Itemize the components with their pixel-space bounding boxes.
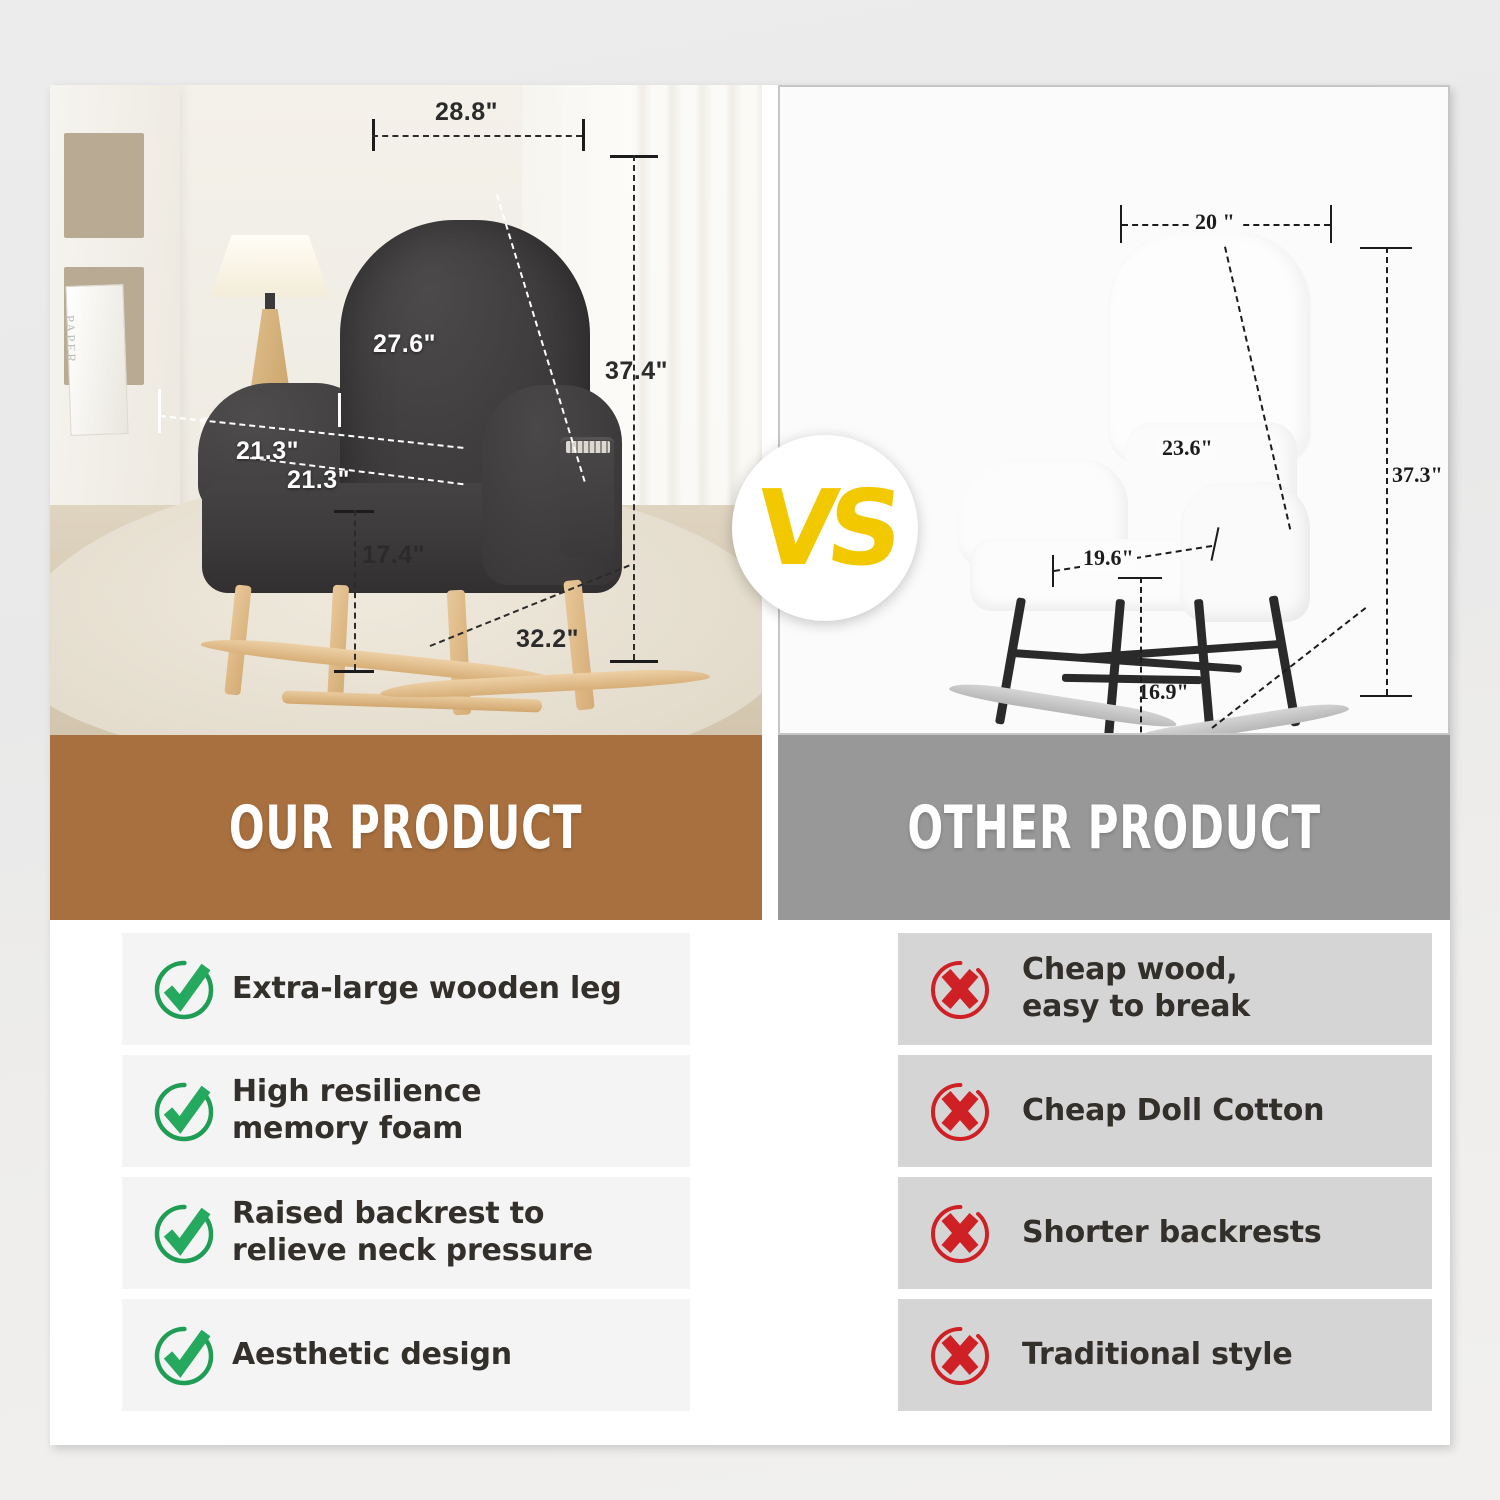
our-product-column: PAPER <box>50 85 762 1445</box>
feature-label: Extra-large wooden leg <box>232 971 622 1008</box>
dim-line <box>1386 247 1388 695</box>
vs-badge: VS <box>732 435 918 621</box>
feature-label: Shorter backrests <box>1008 1215 1322 1252</box>
x-circle-icon <box>912 1075 1008 1147</box>
other-product-feature-list: Cheap wood, easy to break Cheap Doll Cot… <box>778 933 1450 1421</box>
feature-label: Cheap Doll Cotton <box>1008 1093 1324 1130</box>
dim-label-overall-height: 37.4" <box>605 357 668 386</box>
check-circle-icon <box>136 1319 232 1391</box>
feature-label: High resilience memory foam <box>232 1074 481 1147</box>
dim-label-overall-height: 37.3" <box>1392 462 1443 488</box>
our-product-title: OUR PRODUCT <box>229 793 582 863</box>
other-chair-cross-bar <box>1080 640 1280 662</box>
feature-label: Raised backrest to relieve neck pressure <box>232 1196 593 1269</box>
dim-tick <box>1360 695 1412 697</box>
check-circle-icon <box>136 1197 232 1269</box>
other-product-column: 20 " 37.3" 23.6" 19.6" 16.9" <box>778 85 1450 1445</box>
dim-tick <box>338 393 341 427</box>
comparison-infographic: PAPER <box>0 0 1500 1500</box>
feature-label: Traditional style <box>1008 1337 1293 1374</box>
x-circle-icon <box>912 953 1008 1025</box>
feature-label: Cheap wood, easy to break <box>1008 952 1250 1025</box>
feature-row-good[interactable]: Raised backrest to relieve neck pressure <box>122 1177 690 1289</box>
dim-label-seat-height: 16.9" <box>1138 679 1189 705</box>
other-product-title: OTHER PRODUCT <box>907 793 1321 863</box>
feature-row-bad[interactable]: Cheap Doll Cotton <box>898 1055 1432 1167</box>
dim-label-back-height: 23.6" <box>1158 435 1217 461</box>
dim-label-seat-depth: 19.6" <box>1080 545 1137 571</box>
feature-row-good[interactable]: Aesthetic design <box>122 1299 690 1411</box>
dim-line <box>354 510 356 670</box>
shelf-niche-top <box>64 133 144 238</box>
comparison-card: PAPER <box>50 85 1450 1445</box>
room-scene: PAPER <box>50 85 762 735</box>
our-product-header: OUR PRODUCT <box>50 735 762 920</box>
dim-tick <box>582 119 585 151</box>
feature-row-good[interactable]: Extra-large wooden leg <box>122 933 690 1045</box>
dim-line <box>633 155 635 660</box>
check-circle-icon <box>136 953 232 1025</box>
dim-tick <box>334 670 374 673</box>
lamp-shade-icon <box>210 235 330 297</box>
dim-label-seat-depth: 21.3" <box>287 466 350 495</box>
x-circle-icon <box>912 1197 1008 1269</box>
our-product-feature-list: Extra-large wooden leg High resilience m… <box>50 933 762 1421</box>
dim-label-width-top: 20 " <box>1189 209 1241 235</box>
feature-row-good[interactable]: High resilience memory foam <box>122 1055 690 1167</box>
dim-tick <box>158 389 161 433</box>
other-product-image: 20 " 37.3" 23.6" 19.6" 16.9" <box>778 85 1450 735</box>
feature-label: Aesthetic design <box>232 1337 512 1374</box>
lamp-neck <box>265 293 275 311</box>
feature-row-bad[interactable]: Shorter backrests <box>898 1177 1432 1289</box>
dim-line <box>1140 577 1142 735</box>
chair-side-pocket <box>560 437 614 557</box>
check-circle-icon <box>136 1075 232 1147</box>
x-circle-icon <box>912 1319 1008 1391</box>
dim-label-seat-width: 21.3" <box>236 437 299 466</box>
dim-label-back-height: 27.6" <box>373 330 436 359</box>
dim-label-width-top: 28.8" <box>435 98 498 127</box>
dim-label-base-depth: 32.2" <box>516 625 579 654</box>
dim-line <box>372 135 582 137</box>
dim-label-seat-height: 17.4" <box>362 541 425 570</box>
dim-tick <box>1330 205 1332 243</box>
feature-row-bad[interactable]: Cheap wood, easy to break <box>898 933 1432 1045</box>
feature-row-bad[interactable]: Traditional style <box>898 1299 1432 1411</box>
dim-tick <box>610 660 658 663</box>
our-product-image: PAPER <box>50 85 762 735</box>
book-decor: PAPER <box>65 284 128 436</box>
vs-label: VS <box>752 476 898 580</box>
other-product-header: OTHER PRODUCT <box>778 735 1450 920</box>
